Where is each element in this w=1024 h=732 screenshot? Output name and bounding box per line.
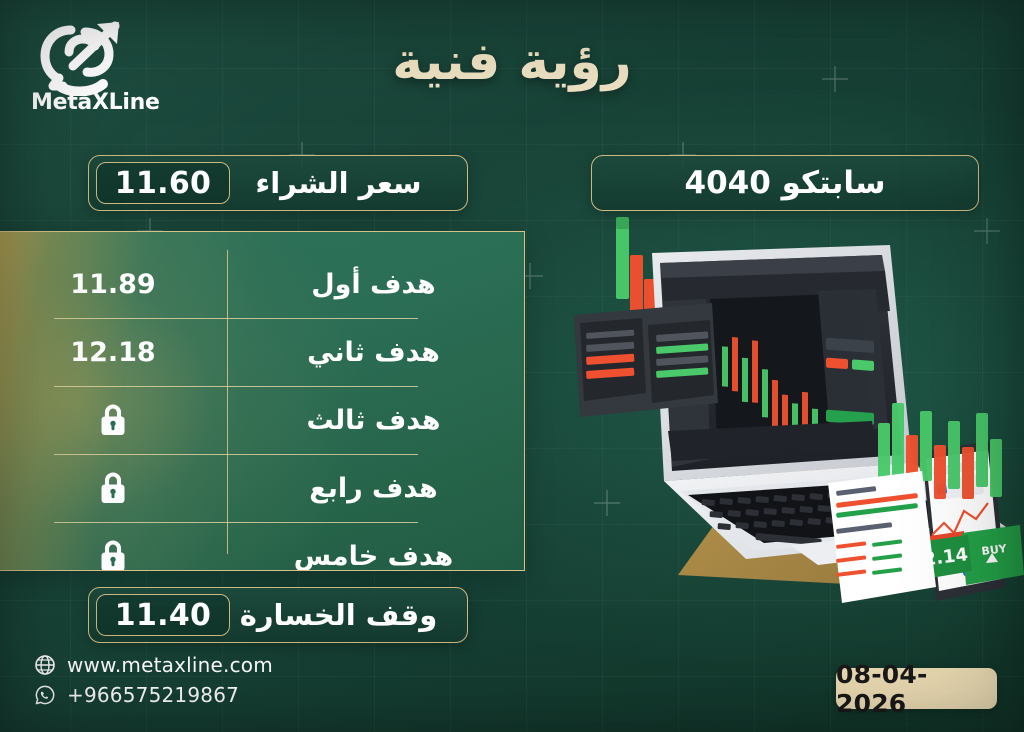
buy-price-pill[interactable]: سعر الشراء 11.60 — [88, 155, 468, 211]
globe-icon — [34, 654, 56, 676]
buy-price-value: 11.60 — [115, 166, 211, 201]
lock-icon — [98, 470, 128, 506]
target-value: 11.89 — [0, 269, 228, 300]
page-title: رؤية فنية — [0, 32, 1024, 92]
column-divider — [227, 250, 228, 554]
illustration-svg: SELL 22.12 BUY 22.14 — [560, 215, 1024, 615]
stop-loss-value-box: 11.40 — [96, 594, 230, 636]
table-row: هدف ثاني 12.18 — [0, 318, 525, 386]
brand-name: MetaXLine — [31, 90, 151, 115]
table-row: هدف خامس — [0, 522, 525, 571]
phone-text: +966575219867 — [67, 683, 239, 707]
symbol-label: سابتكو 4040 — [685, 165, 886, 201]
website-text: www.metaxline.com — [67, 653, 273, 677]
stop-loss-value: 11.40 — [115, 598, 211, 633]
stop-loss-pill[interactable]: وقف الخسارة 11.40 — [88, 587, 468, 643]
target-label: هدف خامس — [228, 541, 525, 572]
buy-price-label: سعر الشراء — [230, 166, 447, 200]
table-row: هدف رابع — [0, 454, 525, 522]
table-row: هدف ثالث — [0, 386, 525, 454]
symbol-pill[interactable]: سابتكو 4040 — [591, 155, 979, 211]
date-badge: 08-04-2026 — [836, 668, 997, 709]
lock-icon — [98, 402, 128, 438]
target-label: هدف ثاني — [228, 337, 525, 368]
website-row[interactable]: www.metaxline.com — [34, 653, 273, 677]
floating-market-panel — [574, 303, 718, 417]
buy-price-value-box: 11.60 — [96, 162, 230, 204]
target-value: 12.18 — [0, 337, 228, 368]
targets-panel: هدف أول 11.89 هدف ثاني 12.18 هدف ثالث هد… — [0, 231, 525, 571]
target-value-locked — [0, 538, 228, 571]
poster-canvas: MetaXLine رؤية فنية سابتكو 4040 سعر الشر… — [0, 0, 1024, 732]
whatsapp-icon — [34, 684, 56, 706]
footer-contact: www.metaxline.com +966575219867 — [34, 653, 273, 707]
target-label: هدف رابع — [228, 473, 525, 504]
report-card — [828, 471, 936, 603]
target-value-locked — [0, 402, 228, 438]
target-value-locked — [0, 470, 228, 506]
stop-loss-label: وقف الخسارة — [230, 598, 447, 632]
phone-row[interactable]: +966575219867 — [34, 683, 273, 707]
target-label: هدف ثالث — [228, 405, 525, 436]
date-text: 08-04-2026 — [836, 660, 997, 718]
lock-icon — [98, 538, 128, 571]
trading-devices-illustration: SELL 22.12 BUY 22.14 — [560, 215, 1024, 615]
target-label: هدف أول — [228, 269, 525, 300]
table-row: هدف أول 11.89 — [0, 250, 525, 318]
